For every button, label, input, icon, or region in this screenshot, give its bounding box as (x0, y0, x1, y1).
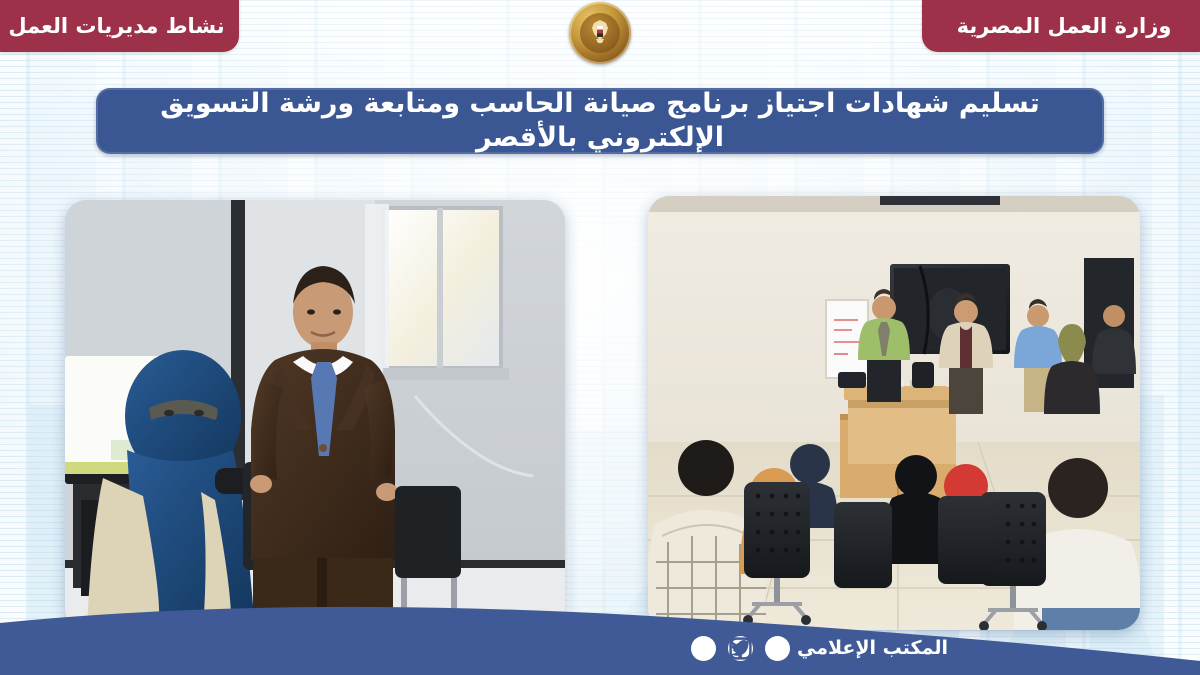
twitter-icon[interactable] (691, 636, 716, 661)
eagle-of-saladin-icon (586, 18, 614, 48)
media-office-label: المكتب الإعلامي (797, 637, 948, 659)
twitter-bird-glyph (691, 636, 790, 661)
social-links (691, 636, 790, 661)
header-tab-ministry-label: وزارة العمل المصرية (957, 14, 1172, 38)
photo-left (65, 200, 565, 630)
headline-text: تسليم شهادات اجتياز برنامج صيانة الحاسب … (112, 87, 1088, 155)
photo-right-illustration (648, 196, 1140, 630)
footer-curve-shape (0, 603, 1200, 675)
ministry-seal-inner (580, 13, 620, 53)
headline-banner: تسليم شهادات اجتياز برنامج صيانة الحاسب … (96, 88, 1104, 154)
footer-bar: المكتب الإعلامي (0, 603, 1200, 675)
header-tab-activity-label: نشاط مديريات العمل (8, 14, 224, 38)
ministry-logo (569, 2, 631, 64)
header-tab-activity: نشاط مديريات العمل (0, 0, 239, 52)
poster-canvas: وزارة العمل المصرية نشاط مديريات العمل ت… (0, 0, 1200, 675)
ministry-seal-icon (569, 2, 631, 64)
photo-left-illustration (65, 200, 565, 630)
photo-right (648, 196, 1140, 630)
header-tab-ministry: وزارة العمل المصرية (922, 0, 1200, 52)
